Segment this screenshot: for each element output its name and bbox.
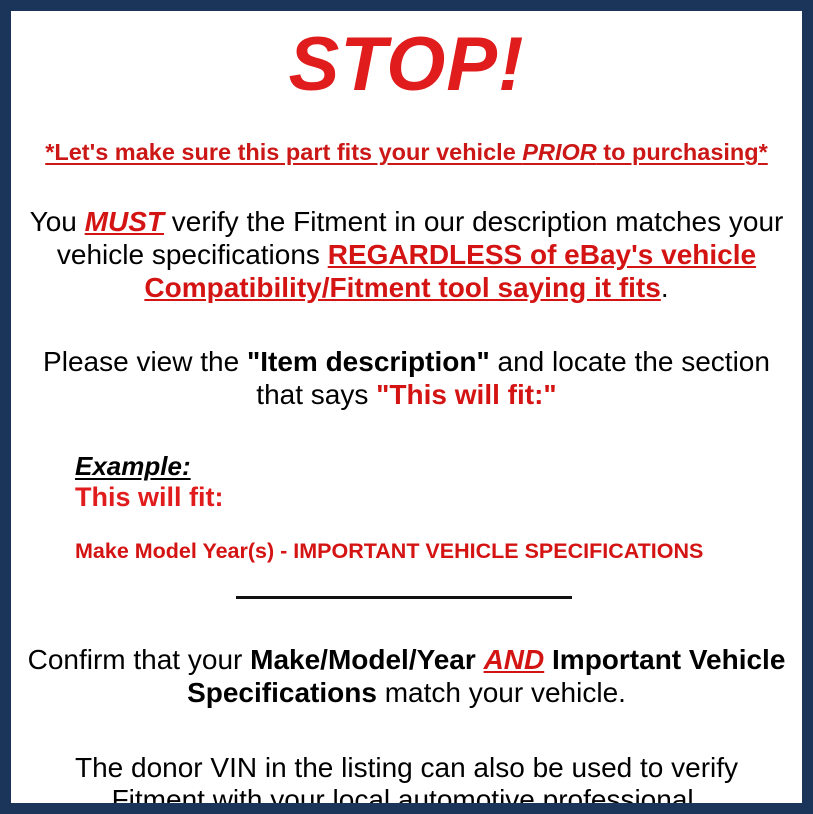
confirm-text-part3: match your vehicle. [377,677,626,708]
donor-vin-paragraph: The donor VIN in the listing can also be… [25,752,788,814]
subtitle-after: to purchasing* [597,139,768,165]
please-text-part1: Please view the [43,346,247,377]
must-verify-paragraph: You MUST verify the Fitment in our descr… [25,206,788,304]
subtitle-emphasis-prior: PRIOR [522,139,596,165]
divider-rule [236,596,572,599]
notice-content: STOP! *Let's make sure this part fits yo… [11,27,802,814]
divider [25,590,788,604]
page-title: STOP! [25,27,788,103]
and-emphasis: AND [484,644,545,675]
please-view-paragraph: Please view the "Item description" and l… [25,346,788,412]
this-will-fit-emphasis: "This will fit:" [376,379,557,410]
example-fit-heading: This will fit: [75,482,788,513]
make-model-year-emphasis: Make/Model/Year [250,644,476,675]
confirm-paragraph: Confirm that your Make/Model/Year AND Im… [25,644,788,710]
fitment-notice-card: STOP! *Let's make sure this part fits yo… [0,0,813,814]
example-block: Example: This will fit: Make Model Year(… [25,452,788,564]
must-text-part3: . [661,272,669,303]
subtitle-before: *Let's make sure this part fits your veh… [45,139,522,165]
subtitle-banner: *Let's make sure this part fits your veh… [25,139,788,166]
example-label: Example: [75,452,788,481]
must-text-part1: You [30,206,85,237]
item-description-emphasis: "Item description" [247,346,490,377]
confirm-text-part1: Confirm that your [28,644,251,675]
example-spec-line: Make Model Year(s) - IMPORTANT VEHICLE S… [75,539,788,564]
must-emphasis: MUST [85,206,164,237]
